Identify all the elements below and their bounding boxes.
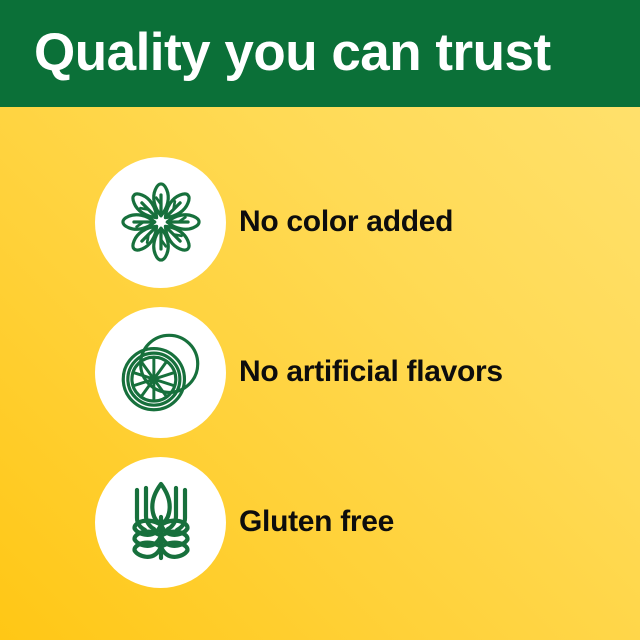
flower-burst-icon [109,170,213,274]
feature-list: No color added [0,107,640,640]
icon-badge [95,307,226,438]
citrus-slice-icon [110,321,212,423]
icon-badge [95,157,226,288]
feature-label: No artificial flavors [239,357,503,387]
icon-badge [95,457,226,588]
wheat-stalk-icon [111,472,211,572]
feature-row: No color added [0,147,640,297]
page-title: Quality you can trust [34,26,551,79]
feature-label: Gluten free [239,507,394,537]
feature-row: Gluten free [0,447,640,597]
feature-label: No color added [239,207,453,237]
header-band: Quality you can trust [0,0,640,107]
quality-claims-poster: Quality you can trust [0,0,640,640]
feature-row: No artificial flavors [0,297,640,447]
